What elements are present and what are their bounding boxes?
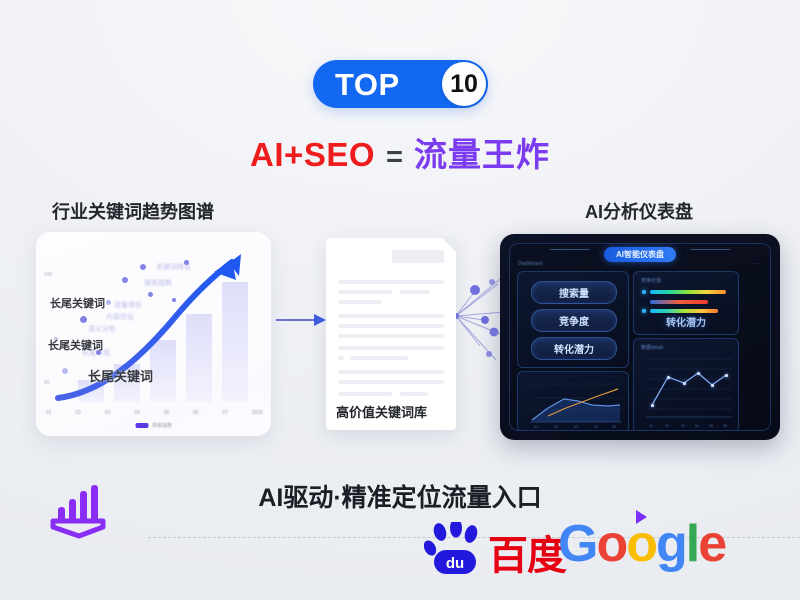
ghost-word: 内容优化	[106, 312, 134, 322]
area-tick: 02	[554, 425, 558, 429]
doc-text-line	[338, 300, 382, 304]
metrics-buttons-panel: 搜索量 竞争度 转化潜力	[517, 271, 629, 368]
google-letter: o	[596, 515, 626, 573]
scatter-dot	[148, 292, 153, 297]
x-axis: 01 02 03 04 05 06 07 2025	[46, 410, 263, 416]
line-tick: 05	[709, 424, 713, 428]
scatter-dot	[62, 368, 68, 374]
doc-text-line	[338, 280, 444, 284]
line-tick: 03	[681, 424, 685, 428]
area-tick: 05	[612, 425, 616, 429]
line-tick: 02	[665, 424, 669, 428]
doc-bullet	[338, 356, 344, 360]
trend-plot: 关键词排名 搜索指数 流量增长 内容优化 语义分析 长尾布局 长尾关键词 长尾关…	[36, 232, 271, 436]
google-logo: Google	[558, 518, 725, 570]
competition-value-panel: 竞争价值 转化潜力	[633, 271, 739, 335]
scatter-dot	[80, 316, 87, 323]
panel-overlay-label: 转化潜力	[634, 314, 738, 329]
top-rank-badge: TOP 10	[313, 60, 488, 108]
doc-text-line	[338, 314, 444, 318]
doc-text-line	[350, 356, 408, 360]
baidu-mark-text: du	[446, 555, 464, 572]
dashboard-menu-icon[interactable]: ···	[753, 261, 762, 267]
scatter-dot	[140, 264, 146, 270]
play-triangle-icon	[636, 510, 647, 524]
google-letter: G	[558, 515, 596, 573]
area-tick: 01	[534, 425, 538, 429]
caption-dashboard: AI分析仪表盘	[585, 198, 693, 224]
line-node	[697, 372, 700, 375]
gradient-bar	[650, 300, 708, 304]
x-axis-tick: 02	[75, 410, 81, 416]
y-axis-tick: 50	[44, 380, 50, 386]
panel-title: 竞争价值	[641, 277, 661, 284]
y-axis-tick: 100	[44, 272, 52, 278]
x-axis-tick: 06	[193, 410, 199, 416]
badge-rank-number: 10	[450, 72, 478, 97]
area-tick: 03	[574, 425, 578, 429]
keyword-label: 长尾关键词	[88, 366, 153, 385]
doc-text-line	[338, 290, 392, 294]
keyword-library-document: 高价值关键词库	[326, 238, 456, 430]
doc-text-line	[400, 392, 428, 396]
ghost-word: 搜索指数	[144, 278, 172, 288]
doc-header-chip	[392, 250, 444, 263]
trend-line-panel: 数据detail 01 02 03	[633, 338, 739, 431]
ghost-word: 关键词排名	[156, 262, 191, 272]
headline-operator: =	[386, 141, 403, 173]
footer-tagline: AI驱动·精准定位流量入口	[0, 478, 800, 514]
line-chart	[634, 339, 738, 431]
headline-right: 流量王炸	[414, 136, 550, 173]
bar-chart-logo-icon	[48, 483, 110, 541]
line-tick: 04	[695, 424, 699, 428]
line-tick: 06	[723, 424, 727, 428]
chart-legend: 搜索指数	[135, 422, 172, 429]
baidu-paw-icon: du	[424, 522, 486, 576]
trend-arrow-icon	[36, 232, 271, 436]
headline-left: AI+SEO	[250, 136, 375, 173]
page-title: AI+SEO=流量王炸	[0, 128, 800, 176]
google-letter: e	[698, 515, 725, 573]
dashboard-screen: AI智能仪表盘 Dashboard ··· 搜索量 竞争度 转化潜力	[509, 243, 771, 431]
ghost-word: 语义分析	[88, 324, 116, 334]
x-axis-tick: 01	[46, 410, 52, 416]
doc-text-line	[338, 324, 444, 328]
document-title: 高价值关键词库	[336, 402, 427, 421]
x-axis-tick: 03	[105, 410, 111, 416]
scatter-dot	[172, 298, 176, 302]
dashboard-brand-label: Dashboard	[518, 261, 542, 267]
ai-dashboard-tablet: AI智能仪表盘 Dashboard ··· 搜索量 竞争度 转化潜力	[500, 234, 780, 440]
deco-line	[550, 249, 590, 250]
line-node	[711, 384, 714, 387]
badge-label: TOP	[335, 69, 400, 100]
bar-marker	[642, 290, 646, 294]
gradient-bar	[650, 309, 718, 313]
legend-swatch	[135, 423, 148, 428]
google-letter: g	[656, 515, 686, 573]
keyword-label: 长尾关键词	[50, 295, 105, 311]
metric-button-conversion[interactable]: 转化潜力	[531, 337, 617, 360]
line-node	[725, 374, 728, 377]
gradient-bar	[650, 290, 726, 294]
trend-chart-card: 关键词排名 搜索指数 流量增长 内容优化 语义分析 长尾布局 长尾关键词 长尾关…	[36, 232, 271, 436]
baidu-wordmark: 百度	[488, 536, 566, 576]
keyword-label: 长尾关键词	[48, 337, 103, 353]
metric-button-search-volume[interactable]: 搜索量	[531, 281, 617, 304]
ghost-word: 流量增长	[114, 300, 142, 310]
caption-trend-chart: 行业关键词趋势图谱	[52, 198, 214, 224]
line-node	[667, 376, 670, 379]
doc-text-line	[400, 290, 430, 294]
badge-rank-circle: 10	[442, 62, 486, 106]
line-tick: 01	[649, 424, 653, 428]
deco-line	[690, 249, 730, 250]
line-node	[651, 404, 654, 407]
scatter-dot	[122, 277, 128, 283]
baidu-logo: du 百度	[424, 522, 566, 576]
scatter-dot	[106, 300, 111, 305]
x-axis-tick: 04	[134, 410, 140, 416]
doc-text-line	[338, 334, 444, 338]
metric-button-competition[interactable]: 竞争度	[531, 309, 617, 332]
x-axis-tick: 2025	[252, 410, 263, 416]
doc-text-line	[338, 392, 392, 396]
bar-marker	[642, 309, 646, 313]
google-letter: l	[686, 515, 698, 573]
doc-text-line	[338, 346, 444, 350]
poster-root: TOP 10 AI+SEO=流量王炸 行业关键词趋势图谱 AI分析仪表盘	[0, 0, 800, 600]
area-tick: 04	[594, 425, 598, 429]
legend-label: 搜索指数	[152, 422, 172, 429]
x-axis-tick: 05	[164, 410, 170, 416]
x-axis-tick: 07	[222, 410, 228, 416]
doc-text-line	[338, 370, 444, 374]
flow-arrow-icon	[276, 313, 326, 327]
dashboard-header-pill: AI智能仪表盘	[604, 247, 676, 262]
doc-text-line	[338, 380, 444, 384]
area-chart-panel: 01 02 03 04 05	[517, 371, 629, 431]
area-chart	[518, 372, 628, 431]
line-node	[683, 382, 686, 385]
